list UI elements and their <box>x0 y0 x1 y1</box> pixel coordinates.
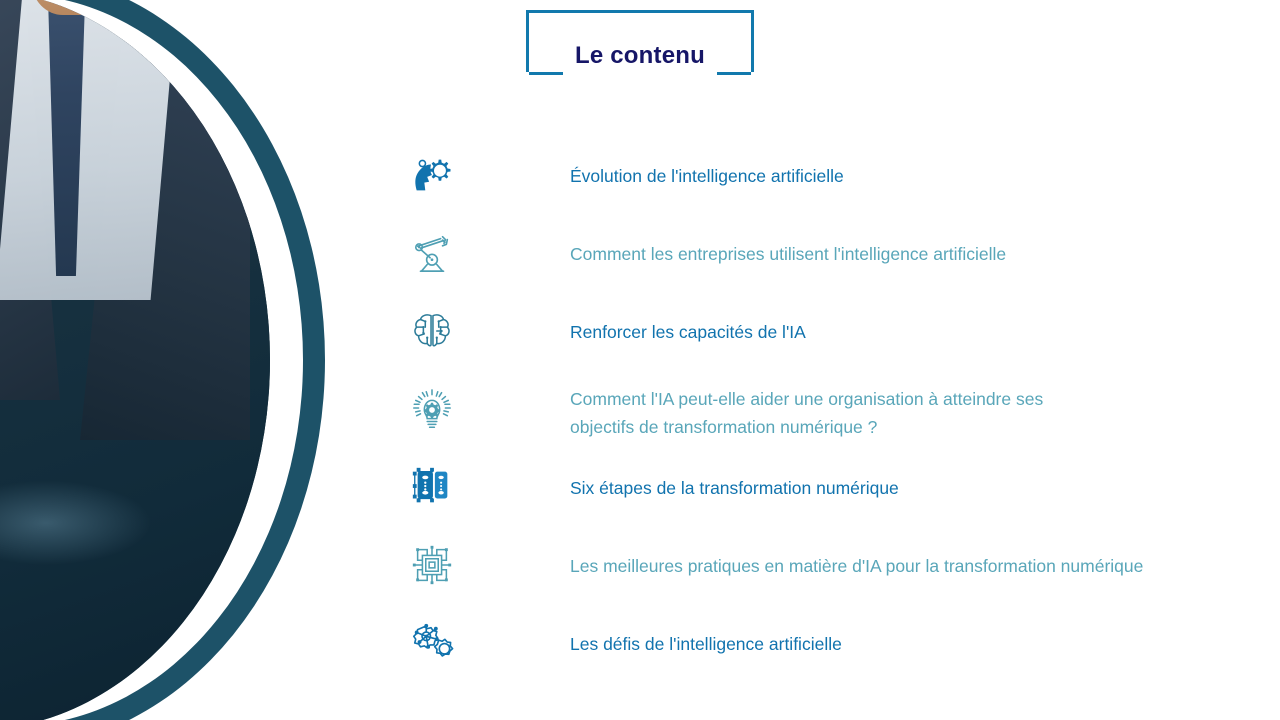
left-decorative-graphic <box>0 0 360 720</box>
list-item-label: Évolution de l'intelligence artificielle <box>570 145 1280 190</box>
hero-photo-businessman-ai <box>0 0 270 720</box>
list-item-label: Renforcer les capacités de l'IA <box>570 301 1280 346</box>
list-item[interactable]: Évolution de l'intelligence artificielle <box>404 145 1280 223</box>
cpu-chip-icon <box>404 537 460 593</box>
list-item-label: Comment les entreprises utilisent l'inte… <box>570 223 1280 268</box>
circuit-brain-icon <box>404 303 460 359</box>
list-item[interactable]: Les défis de l'intelligence artificielle <box>404 613 1280 691</box>
server-rack-icon <box>404 459 460 515</box>
list-item-label: Comment l'IA peut-elle aider une organis… <box>570 379 1280 441</box>
list-item-label: Les meilleures pratiques en matière d'IA… <box>570 535 1280 580</box>
list-item[interactable]: Six étapes de la transformation numériqu… <box>404 457 1280 535</box>
list-item[interactable]: Comment les entreprises utilisent l'inte… <box>404 223 1280 301</box>
hero-photo-oval-mask <box>0 0 270 720</box>
list-item[interactable]: Renforcer les capacités de l'IA <box>404 301 1280 379</box>
list-item-label: Six étapes de la transformation numériqu… <box>570 457 1280 502</box>
gears-network-icon <box>404 615 460 671</box>
list-item-label: Les défis de l'intelligence artificielle <box>570 613 1280 658</box>
title-container: Le contenu <box>526 10 754 72</box>
content-list: Évolution de l'intelligence artificielle <box>404 145 1280 691</box>
dress-shirt <box>0 0 179 300</box>
list-item[interactable]: Les meilleures pratiques en matière d'IA… <box>404 535 1280 613</box>
robot-arm-icon <box>404 225 460 281</box>
page-title: Le contenu <box>526 10 754 72</box>
lightbulb-gear-icon <box>404 381 460 437</box>
list-item[interactable]: Comment l'IA peut-elle aider une organis… <box>404 379 1280 457</box>
presentation-slide: Le contenu Évolution de l'intelligence a… <box>0 0 1280 720</box>
head-with-gear-icon <box>404 147 460 203</box>
